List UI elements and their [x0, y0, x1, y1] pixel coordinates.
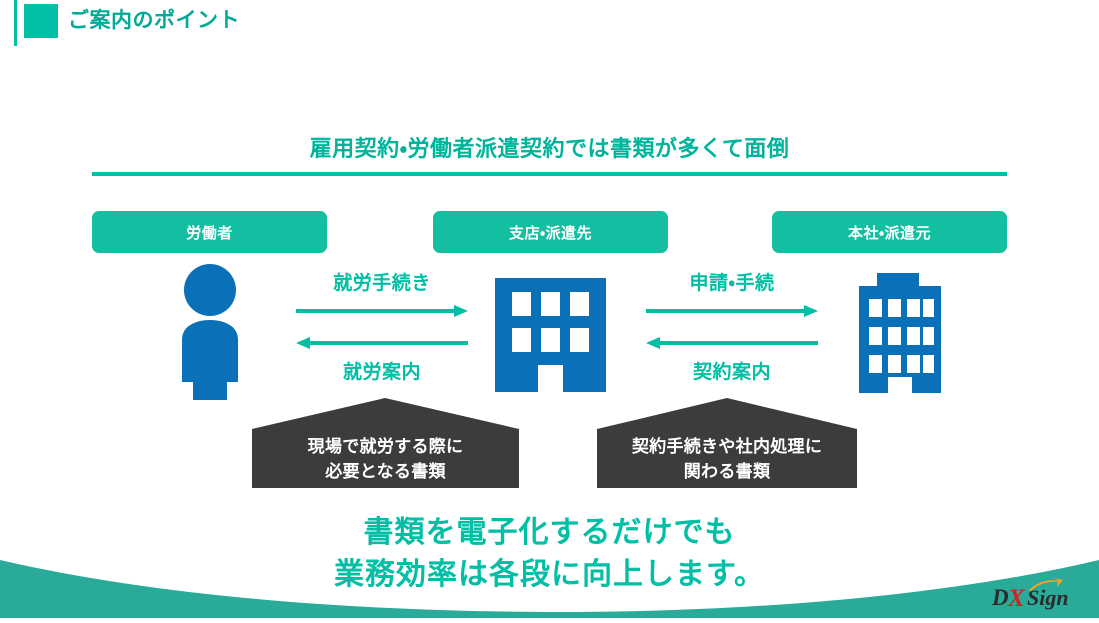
office-building-icon	[492, 276, 609, 394]
conclusion-line-2: 業務効率は各段に向上します。	[0, 554, 1099, 596]
flow-label-back: 契約案内	[646, 357, 818, 384]
callout-text: 契約手続きや社内処理に 関わる書類	[597, 429, 857, 488]
flow-worker-branch: 就労手続き 就労案内	[296, 268, 468, 384]
arrow-right-icon	[296, 304, 468, 316]
flow-label-back: 就労案内	[296, 357, 468, 384]
flow-label-forward: 申請・手続	[646, 268, 818, 295]
diagram-subtitle: 雇用契約・労働者派遣契約では書類が多くて面倒	[0, 131, 1099, 163]
person-icon	[168, 263, 252, 400]
conclusion-message: 書類を電子化するだけでも 業務効率は各段に向上します。	[0, 512, 1099, 596]
callout-up-pointer-icon	[252, 398, 519, 432]
arrow-left-icon	[646, 336, 818, 348]
callout-line-2: 関わる書類	[684, 459, 771, 484]
callout-line-1: 現場で就労する際に	[308, 434, 464, 459]
callout-line-2: 必要となる書類	[325, 459, 446, 484]
callout-contract-documents: 契約手続きや社内処理に 関わる書類	[597, 398, 857, 488]
arrow-left-icon	[296, 336, 468, 348]
divider	[92, 172, 1007, 176]
role-label-branch: 支店・派遣先	[433, 211, 668, 253]
flow-branch-headquarters: 申請・手続 契約案内	[646, 268, 818, 384]
flow-label-forward: 就労手続き	[296, 268, 468, 295]
callout-text: 現場で就労する際に 必要となる書類	[252, 429, 519, 488]
arrow-right-icon	[646, 304, 818, 316]
conclusion-line-1: 書類を電子化するだけでも	[0, 512, 1099, 554]
headquarters-building-icon	[843, 271, 957, 395]
role-label-worker: 労働者	[92, 211, 327, 253]
role-label-headquarters: 本社・派遣元	[772, 211, 1007, 253]
callout-line-1: 契約手続きや社内処理に	[632, 434, 822, 459]
callout-worker-documents: 現場で就労する際に 必要となる書類	[252, 398, 519, 488]
callout-up-pointer-icon	[597, 398, 857, 432]
